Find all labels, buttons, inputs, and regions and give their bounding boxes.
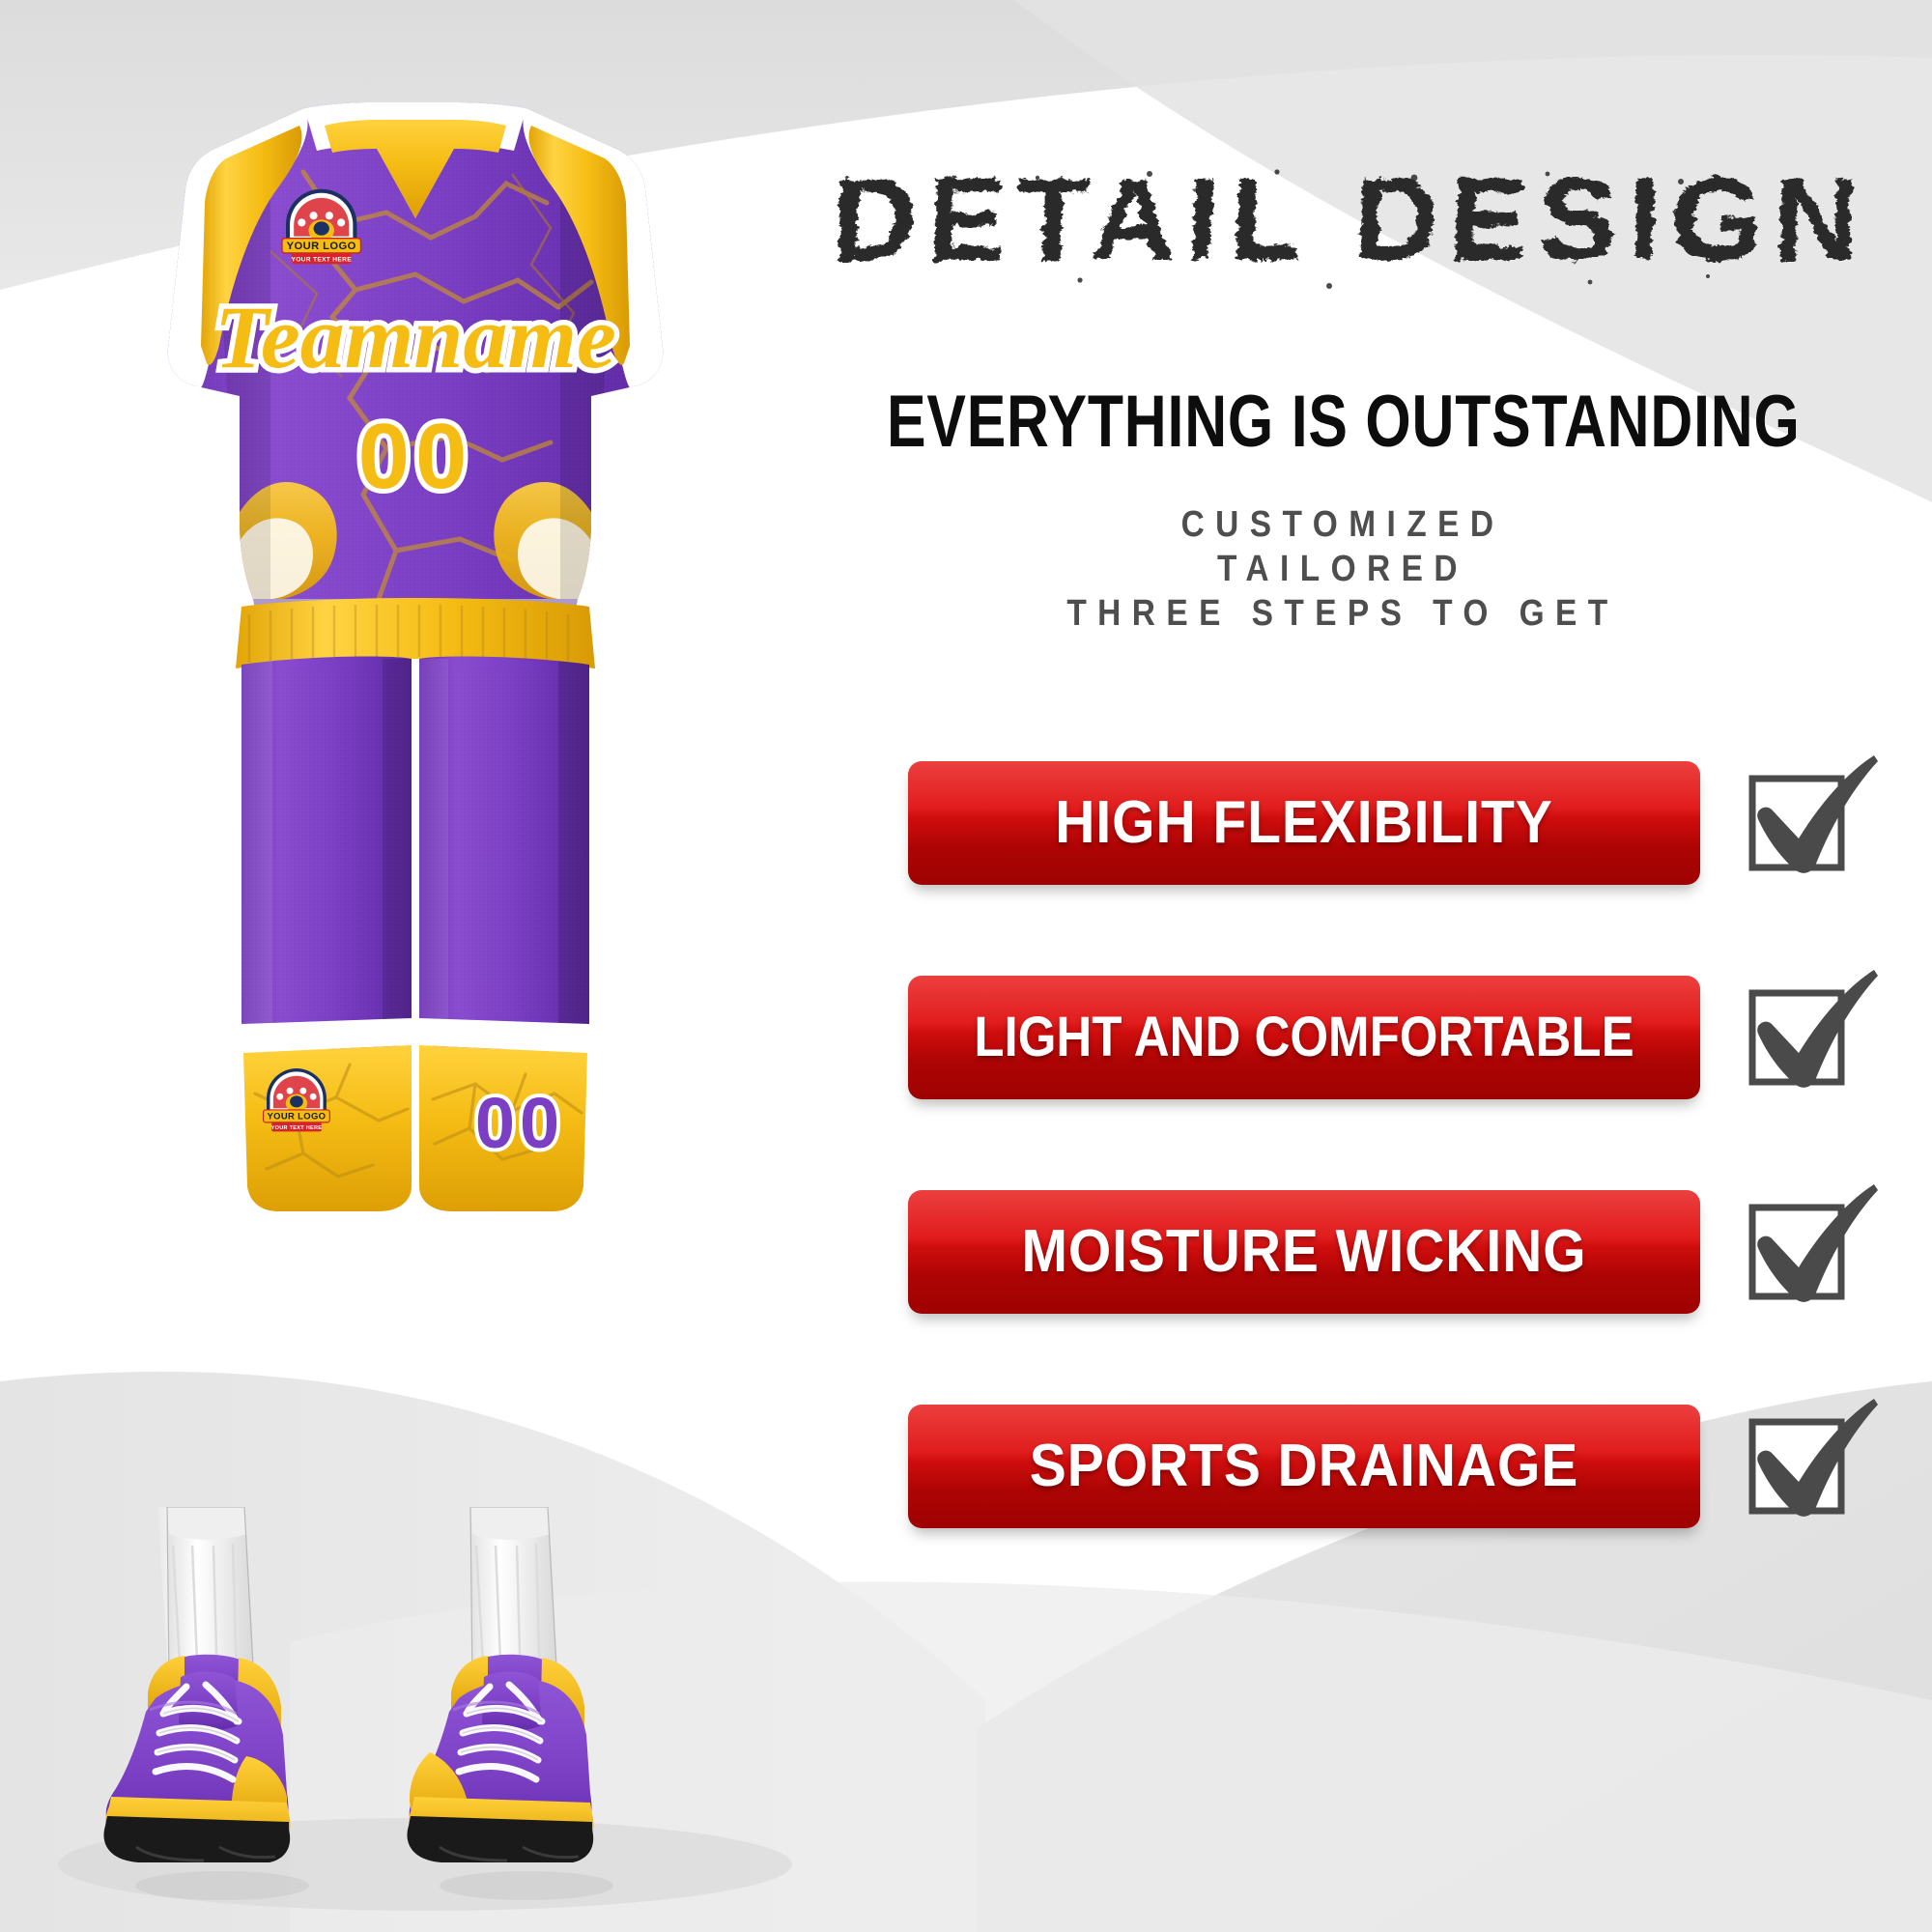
tagline-customized: CUSTOMIZED [841, 502, 1844, 547]
feature-banner-light-and-comfortable[interactable]: LIGHT AND COMFORTABLE [908, 976, 1700, 1099]
tagline-tailored: TAILORED [841, 547, 1844, 591]
tagline-group: CUSTOMIZED TAILORED THREE STEPS TO GET [773, 502, 1913, 636]
right-shoe [407, 1655, 593, 1862]
shorts: YOUR LOGO YOUR TEXT HERE 00 [232, 598, 609, 1211]
left-shoe [103, 1655, 290, 1862]
feature-row: MOISTURE WICKING [773, 1175, 1932, 1389]
title-text: DETAIL DESIGN [831, 153, 1871, 284]
jersey-number: 00 [358, 405, 473, 508]
feature-row: HIGH FLEXIBILITY [773, 746, 1932, 960]
tagline-three-steps: THREE STEPS TO GET [841, 591, 1844, 636]
shoes-and-socks-mockup [92, 1507, 749, 1922]
page-title: DETAIL DESIGN [831, 145, 1874, 299]
svg-text:YOUR LOGO: YOUR LOGO [268, 1111, 327, 1122]
feature-banner-high-flexibility[interactable]: HIGH FLEXIBILITY [908, 761, 1700, 885]
svg-text:YOUR TEXT HERE: YOUR TEXT HERE [291, 257, 352, 264]
jersey: YOUR LOGO YOUR TEXT HERE Teamname 00 [155, 97, 696, 618]
feature-banner-sports-drainage[interactable]: SPORTS DRAINAGE [908, 1405, 1700, 1528]
right-content-column: DETAIL DESIGN EVERYTHING IS OUTSTANDING … [773, 0, 1932, 1932]
feature-label: HIGH FLEXIBILITY [940, 793, 1668, 853]
shorts-number: 00 [475, 1083, 564, 1163]
subtitle: EVERYTHING IS OUTSTANDING [887, 382, 1799, 463]
feature-row: LIGHT AND COMFORTABLE [773, 960, 1932, 1175]
check-icon [1739, 964, 1884, 1109]
feature-list: HIGH FLEXIBILITY LIGHT AND COMFORTABLE [773, 746, 1932, 1604]
jersey-team-name: Teamname [214, 288, 616, 386]
feature-label: SPORTS DRAINAGE [940, 1436, 1668, 1496]
check-icon [1739, 1179, 1884, 1323]
check-icon [1739, 750, 1884, 895]
uniform-illustration: YOUR LOGO YOUR TEXT HERE Teamname 00 [97, 58, 734, 1430]
check-icon [1739, 1393, 1884, 1538]
product-uniform-mockup: YOUR LOGO YOUR TEXT HERE Teamname 00 [97, 58, 734, 1430]
feature-banner-moisture-wicking[interactable]: MOISTURE WICKING [908, 1190, 1700, 1314]
svg-text:YOUR TEXT HERE: YOUR TEXT HERE [271, 1125, 323, 1131]
feature-label: MOISTURE WICKING [940, 1222, 1668, 1282]
poster-canvas: YOUR LOGO YOUR TEXT HERE Teamname 00 [0, 0, 1932, 1932]
footwear-illustration [92, 1507, 749, 1922]
feature-label: LIGHT AND COMFORTABLE [955, 1008, 1653, 1067]
detail-design-grunge-title: DETAIL DESIGN [831, 145, 1874, 299]
feature-row: SPORTS DRAINAGE [773, 1389, 1932, 1604]
svg-text:YOUR LOGO: YOUR LOGO [287, 241, 356, 252]
